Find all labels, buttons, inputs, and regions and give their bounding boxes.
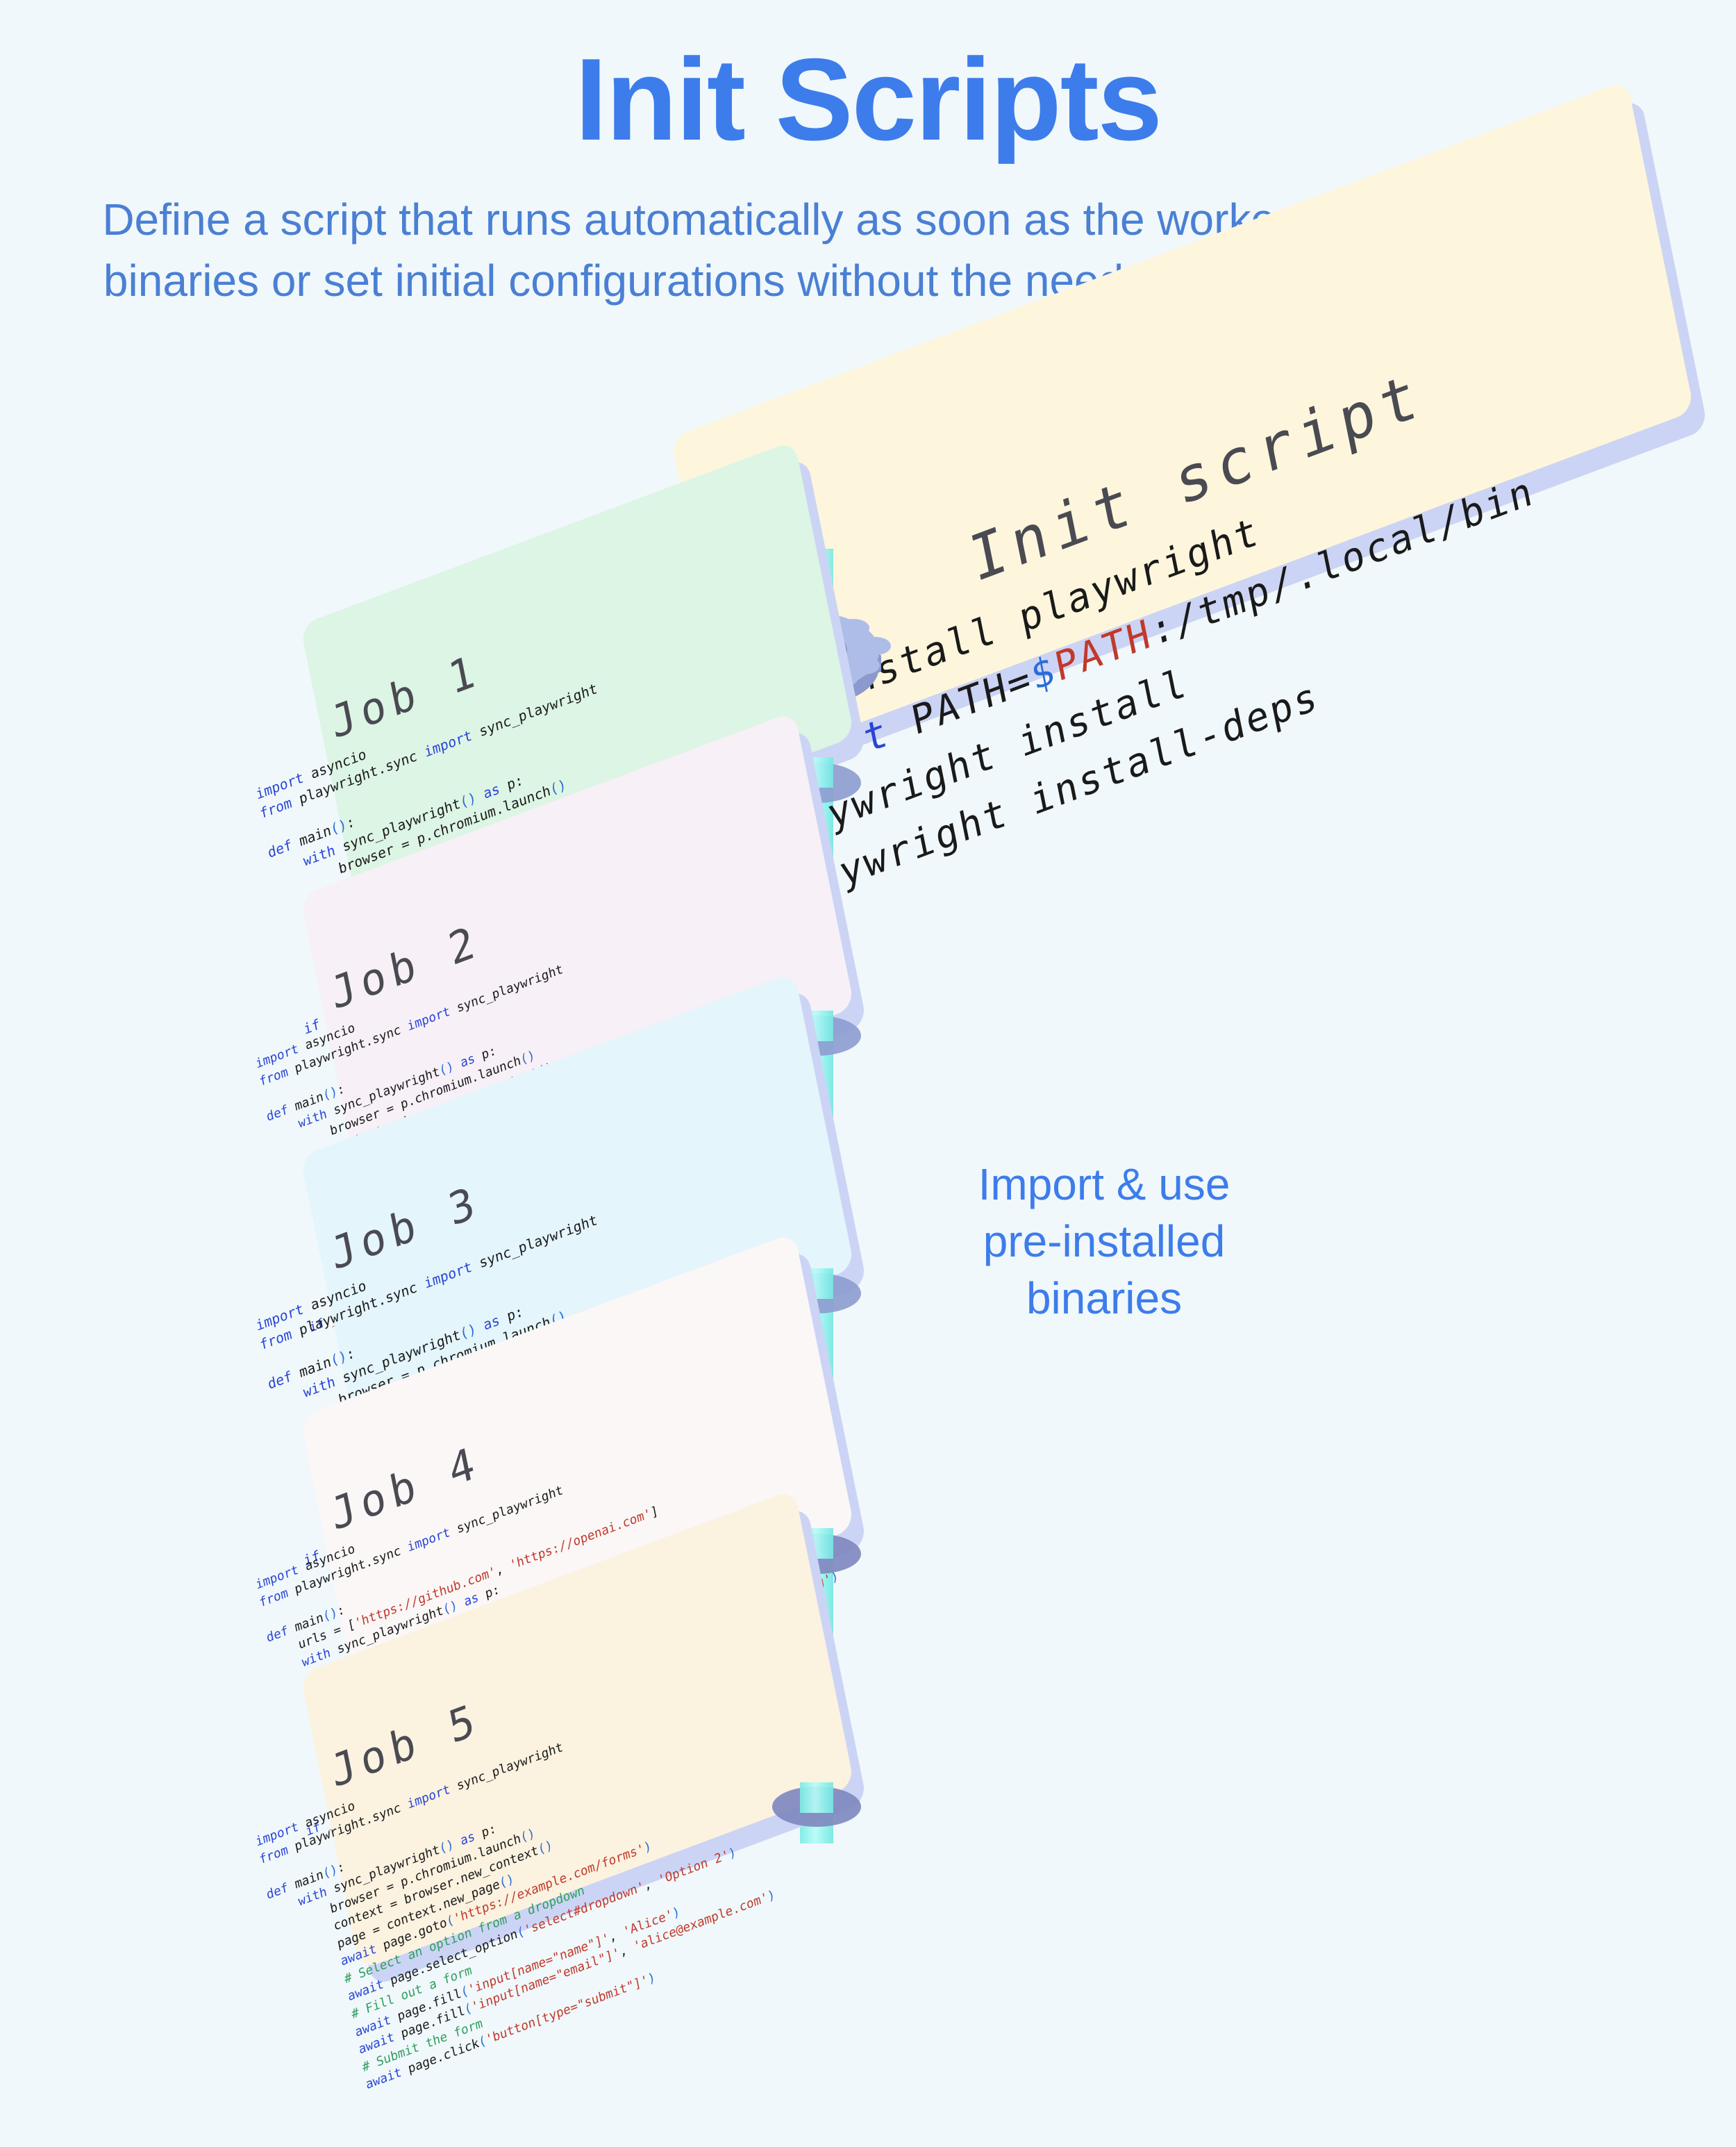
job-card-5[interactable]: Job 5 import asyncio from playwright.syn… xyxy=(187,1660,889,1987)
isometric-diagram: Init script pip install playwright expor… xyxy=(0,0,1736,1843)
annotation-label: Import & use pre-installed binaries xyxy=(958,1157,1250,1327)
tube-seg-5 xyxy=(800,1782,833,1813)
